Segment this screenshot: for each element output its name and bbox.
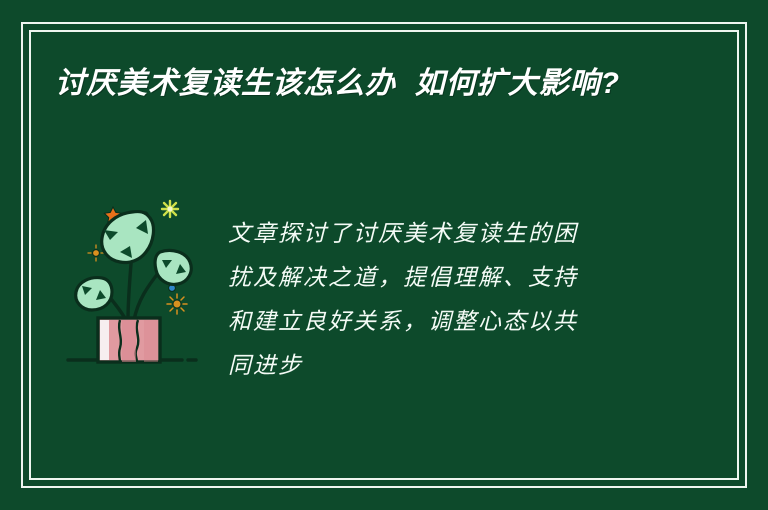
page-title: 讨厌美术复读生该怎么办 如何扩大影响? — [55, 60, 655, 108]
potted-plant-illustration — [60, 190, 210, 370]
summary-paragraph: 文章探讨了讨厌美术复读生的困 扰及解决之道，提倡理解、支持 和建立良好关系，调整… — [228, 212, 658, 388]
leaf-right — [155, 250, 191, 284]
summary-line: 同进步 — [228, 344, 658, 388]
leaf-left — [76, 278, 112, 310]
summary-line: 文章探讨了讨厌美术复读生的困 — [228, 212, 658, 256]
sparkle-amber-icon — [167, 294, 187, 314]
summary-line: 扰及解决之道，提倡理解、支持 — [228, 256, 658, 300]
poster-card: 讨厌美术复读生该怎么办 如何扩大影响? — [0, 0, 768, 510]
sparkle-yellow-icon — [162, 201, 178, 217]
summary-line: 和建立良好关系，调整心态以共 — [228, 300, 658, 344]
flower-pot — [98, 318, 160, 362]
